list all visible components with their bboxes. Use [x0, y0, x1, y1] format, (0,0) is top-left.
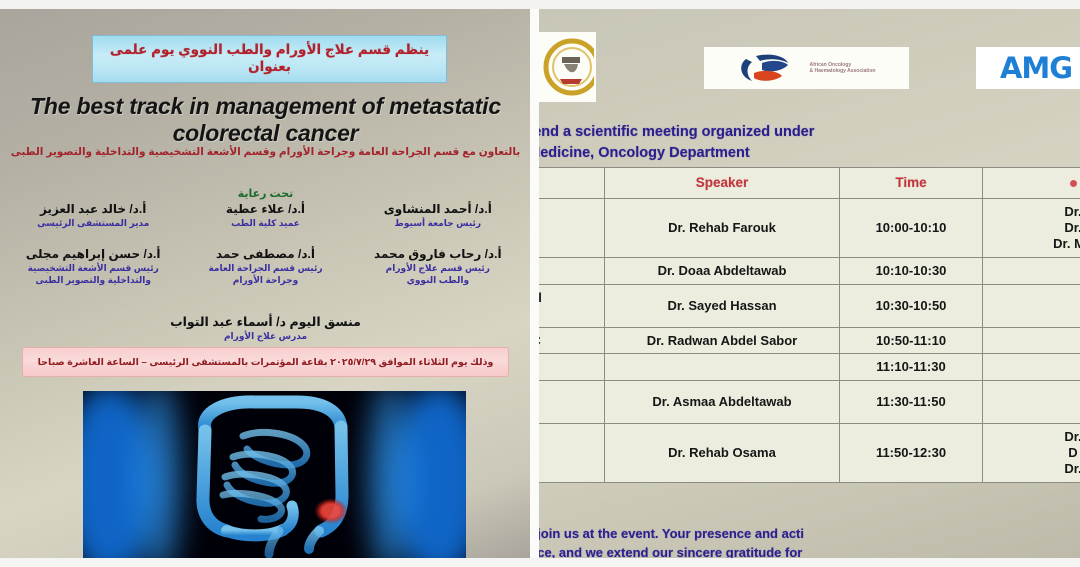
- patron-name: أ.د/ مصطفى حمد: [180, 247, 350, 263]
- patron-role: عميد كلية الطب: [180, 218, 350, 230]
- table-row: met. CRC Dr. Radwan Abdel Sabor 10:50-11…: [539, 327, 1080, 354]
- column-header-topic: [539, 168, 605, 199]
- schedule-table: Speaker Time g Dr. Rehab Farouk 10:00-10…: [539, 167, 1080, 483]
- table-row: eak 11:10-11:30: [539, 354, 1080, 381]
- cell-topic: eak: [539, 354, 605, 381]
- patron-name: أ.د/ رحاب فاروق محمد: [353, 247, 523, 263]
- egypt-government-emblem-icon: [539, 32, 596, 102]
- patron-name: أ.د/ حسن إبراهيم مجلى: [8, 247, 178, 263]
- cell-chair: [983, 258, 1080, 285]
- patron-role: رئيس جامعة أسيوط: [353, 218, 523, 230]
- arabic-subtitle: بالتعاون مع قسم الجراحة العامة وجراحة ال…: [0, 146, 531, 158]
- cell-speaker: Dr. Asmaa Abdeltawab: [605, 381, 840, 424]
- venue-banner: وذلك يوم الثلاثاء الموافق ٢٠٢٥/٧/٢٩ بقاع…: [22, 347, 509, 377]
- patron-entry: أ.د/ خالد عبد العزيز مدير المستشفى الرئي…: [8, 202, 178, 229]
- coordinator-role: مدرس علاج الأورام: [0, 331, 531, 342]
- table-row: et in met CRC Dr. Asmaa Abdeltawab 11:30…: [539, 381, 1080, 424]
- table-row: g Dr. Rehab Farouk 10:00-10:10 Dr. Dr. D…: [539, 199, 1080, 258]
- eagle-emblem-icon: [539, 35, 594, 99]
- coordinator-block: منسق اليوم د/ أسماء عبد التواب مدرس علاج…: [0, 314, 531, 342]
- closing-line-1: onored o have you join us at the event. …: [539, 525, 804, 544]
- oncology-society-logo-icon: African Oncology & Haematology Associati…: [704, 47, 909, 89]
- cell-speaker: Dr. Rehab Farouk: [605, 199, 840, 258]
- cell-topic: ssion: [539, 424, 605, 483]
- screenshot-root: ينظم قسم علاج الأورام والطب النووي يوم ع…: [0, 0, 1080, 567]
- cell-topic: diological CRC: [539, 284, 605, 327]
- table-row: in CRC Dr. Doaa Abdeltawab 10:10-10:30: [539, 258, 1080, 285]
- english-title-line-2: colorectal cancer: [0, 120, 531, 147]
- table-row: diological CRC Dr. Sayed Hassan 10:30-10…: [539, 284, 1080, 327]
- right-poster-slide: African Oncology & Haematology Associati…: [539, 9, 1080, 558]
- patrons-grid: أ.د/ خالد عبد العزيز مدير المستشفى الرئي…: [8, 202, 523, 286]
- english-title-line-1: The best track in management of metastat…: [0, 93, 531, 120]
- cell-speaker: Dr. Rehab Osama: [605, 424, 840, 483]
- invitation-line-1: fully invited o attend a scientific meet…: [539, 122, 814, 143]
- society-logo-text: African Oncology & Haematology Associati…: [810, 62, 876, 75]
- invitation-line-2: rsity, Faculty of Medicine, Oncology Dep…: [539, 143, 750, 164]
- patron-entry: أ.د/ أحمد المنشاوى رئيس جامعة أسيوط: [353, 202, 523, 229]
- cell-time: 10:50-11:10: [840, 327, 983, 354]
- amgen-logo-icon: AMG: [976, 47, 1080, 89]
- patron-name: أ.د/ أحمد المنشاوى: [353, 202, 523, 218]
- patron-entry: أ.د/ مصطفى حمد رئيس قسم الجراحة العامة و…: [180, 247, 350, 286]
- sponsor-logo-row: African Oncology & Haematology Associati…: [539, 27, 1080, 99]
- patron-entry: أ.د/ علاء عطية عميد كلية الطب: [180, 202, 350, 229]
- table-row: ssion Dr. Rehab Osama 11:50-12:30 Dr. D …: [539, 424, 1080, 483]
- table-header-row: Speaker Time: [539, 168, 1080, 199]
- cell-speaker: [605, 354, 840, 381]
- cell-speaker: Dr. Doaa Abdeltawab: [605, 258, 840, 285]
- cell-chair: Dr. Dr. Dr. Mo: [983, 199, 1080, 258]
- cell-speaker: Dr. Sayed Hassan: [605, 284, 840, 327]
- society-swoosh-icon: [738, 49, 806, 87]
- patron-entry: أ.د/ رحاب فاروق محمد رئيس قسم علاج الأور…: [353, 247, 523, 286]
- arabic-header-line-1: ينظم قسم علاج الأورام والطب النووي يوم ع…: [110, 42, 429, 59]
- coordinator-name: منسق اليوم د/ أسماء عبد التواب: [0, 314, 531, 329]
- venue-banner-text: وذلك يوم الثلاثاء الموافق ٢٠٢٥/٧/٢٩ بقاع…: [38, 357, 494, 368]
- patron-entry: أ.د/ حسن إبراهيم مجلى رئيس قسم الأشعة ال…: [8, 247, 178, 286]
- column-header-chair: [983, 168, 1080, 199]
- left-poster-slide: ينظم قسم علاج الأورام والطب النووي يوم ع…: [0, 9, 531, 558]
- arabic-header-line-2: بعنوان: [248, 59, 291, 76]
- cell-time: 10:30-10:50: [840, 284, 983, 327]
- cell-topic: met. CRC: [539, 327, 605, 354]
- chair-header-dot-icon: [1070, 180, 1077, 187]
- english-title: The best track in management of metastat…: [0, 93, 531, 147]
- colon-anatomy-icon: [83, 391, 466, 558]
- patron-role: رئيس قسم علاج الأورام والطب النووي: [353, 263, 523, 286]
- cell-time: 10:10-10:30: [840, 258, 983, 285]
- slide-divider: [530, 0, 539, 567]
- cell-chair: Dr. D Dr.: [983, 424, 1080, 483]
- patron-role: رئيس قسم الأشعة التشخيصية والتداخلية وال…: [8, 263, 178, 286]
- colorectal-cancer-illustration: [83, 391, 466, 558]
- column-header-time: Time: [840, 168, 983, 199]
- cell-topic: in CRC: [539, 258, 605, 285]
- closing-line-2: enrich the experience, and we extend our…: [539, 544, 802, 558]
- cell-chair: [983, 284, 1080, 327]
- cell-topic: et in met CRC: [539, 381, 605, 424]
- cell-chair: [983, 327, 1080, 354]
- cell-time: 11:10-11:30: [840, 354, 983, 381]
- cell-chair: [983, 381, 1080, 424]
- cell-speaker: Dr. Radwan Abdel Sabor: [605, 327, 840, 354]
- top-white-band: [0, 0, 1080, 9]
- patron-role: مدير المستشفى الرئيسى: [8, 218, 178, 230]
- cell-time: 10:00-10:10: [840, 199, 983, 258]
- column-header-speaker: Speaker: [605, 168, 840, 199]
- patron-label: تحت رعاية: [0, 187, 531, 200]
- arabic-header-box: ينظم قسم علاج الأورام والطب النووي يوم ع…: [92, 35, 447, 83]
- cell-chair: [983, 354, 1080, 381]
- bottom-white-band: [0, 558, 1080, 567]
- cell-time: 11:30-11:50: [840, 381, 983, 424]
- cell-time: 11:50-12:30: [840, 424, 983, 483]
- patron-role: رئيس قسم الجراحة العامة وجراحة الأورام: [180, 263, 350, 286]
- patron-name: أ.د/ خالد عبد العزيز: [8, 202, 178, 218]
- cell-topic: g: [539, 199, 605, 258]
- patron-name: أ.د/ علاء عطية: [180, 202, 350, 218]
- amgen-logo-text: AMG: [1000, 51, 1072, 85]
